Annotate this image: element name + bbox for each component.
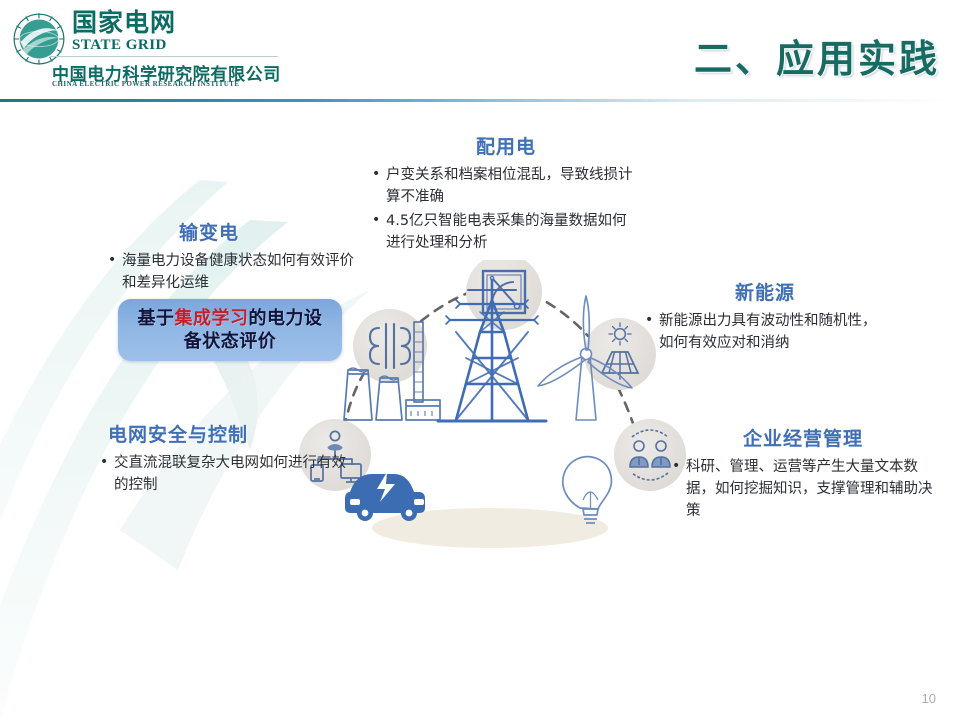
logo-divider (50, 56, 278, 57)
topic-heading-new-energy: 新能源 (645, 278, 885, 305)
bullet-item: • 新能源出力具有波动性和随机性，如何有效应对和消纳 (645, 310, 885, 354)
bullet-marker: • (372, 210, 386, 231)
brand-name-cn: 国家电网 (72, 10, 176, 36)
bullet-text: 4.5亿只智能电表采集的海量数据如何进行处理和分析 (386, 210, 640, 254)
brand-wordmark: 国家电网 STATE GRID (72, 10, 176, 55)
organization-name-en: CHINA ELECTRIC POWER RESEARCH INSTITUTE (52, 80, 240, 88)
brand-logo-block: 国家电网 STATE GRID (12, 10, 176, 66)
topic-block-transmission: 输变电 • 海量电力设备健康状态如何有效评价和差异化运维 (108, 218, 358, 294)
brand-name-en: STATE GRID (72, 37, 176, 54)
header-rule (0, 99, 960, 102)
bullet-text: 新能源出力具有波动性和随机性，如何有效应对和消纳 (659, 310, 885, 354)
topic-block-enterprise-management: 企业经营管理 • 科研、管理、运营等产生大量文本数据，如何挖掘知识，支撑管理和辅… (672, 424, 934, 522)
topic-heading-transmission: 输变电 (108, 218, 358, 245)
bullet-marker: • (372, 164, 386, 185)
slide-header: 国家电网 STATE GRID 中国电力科学研究院有限公司 CHINA ELEC… (0, 0, 960, 100)
bullet-text: 海量电力设备健康状态如何有效评价和差异化运维 (122, 250, 358, 294)
bullet-text: 科研、管理、运营等产生大量文本数据，如何挖掘知识，支撑管理和辅助决策 (686, 456, 934, 522)
topic-heading-grid-security: 电网安全与控制 (100, 420, 352, 447)
bullet-text: 交直流混联复杂大电网如何进行有效的控制 (114, 452, 352, 496)
bullet-item: • 交直流混联复杂大电网如何进行有效的控制 (100, 452, 352, 496)
bullet-item: • 科研、管理、运营等产生大量文本数据，如何挖掘知识，支撑管理和辅助决策 (672, 456, 934, 522)
topic-heading-distribution: 配用电 (372, 132, 640, 159)
bullet-text: 户变关系和档案相位混乱，导致线损计算不准确 (386, 164, 640, 208)
callout-line-2: 备状态评价 (184, 330, 277, 353)
highlight-callout-box: 基于集成学习的电力设 备状态评价 (118, 299, 342, 361)
state-grid-globe-icon (12, 12, 66, 66)
callout-text-pre: 基于 (138, 308, 175, 329)
bullet-marker: • (645, 310, 659, 331)
bullet-item: • 4.5亿只智能电表采集的海量数据如何进行处理和分析 (372, 210, 640, 254)
topic-block-grid-security: 电网安全与控制 • 交直流混联复杂大电网如何进行有效的控制 (100, 420, 352, 496)
bullet-item: • 海量电力设备健康状态如何有效评价和差异化运维 (108, 250, 358, 294)
callout-text-highlight: 集成学习 (175, 308, 249, 329)
page-number: 10 (922, 691, 936, 706)
slide-title: 二、应用实践 (694, 28, 940, 83)
bullet-marker: • (100, 452, 114, 473)
light-bulb-icon (563, 457, 612, 523)
topic-block-distribution: 配用电 • 户变关系和档案相位混乱，导致线损计算不准确 • 4.5亿只智能电表采… (372, 132, 640, 254)
topic-block-new-energy: 新能源 • 新能源出力具有波动性和随机性，如何有效应对和消纳 (645, 278, 885, 354)
callout-text-post: 的电力设 (249, 308, 323, 329)
bullet-marker: • (672, 456, 686, 477)
callout-line-1: 基于集成学习的电力设 (138, 307, 323, 330)
bullet-marker: • (108, 250, 122, 271)
bullet-item: • 户变关系和档案相位混乱，导致线损计算不准确 (372, 164, 640, 208)
topic-heading-enterprise-management: 企业经营管理 (672, 424, 934, 451)
